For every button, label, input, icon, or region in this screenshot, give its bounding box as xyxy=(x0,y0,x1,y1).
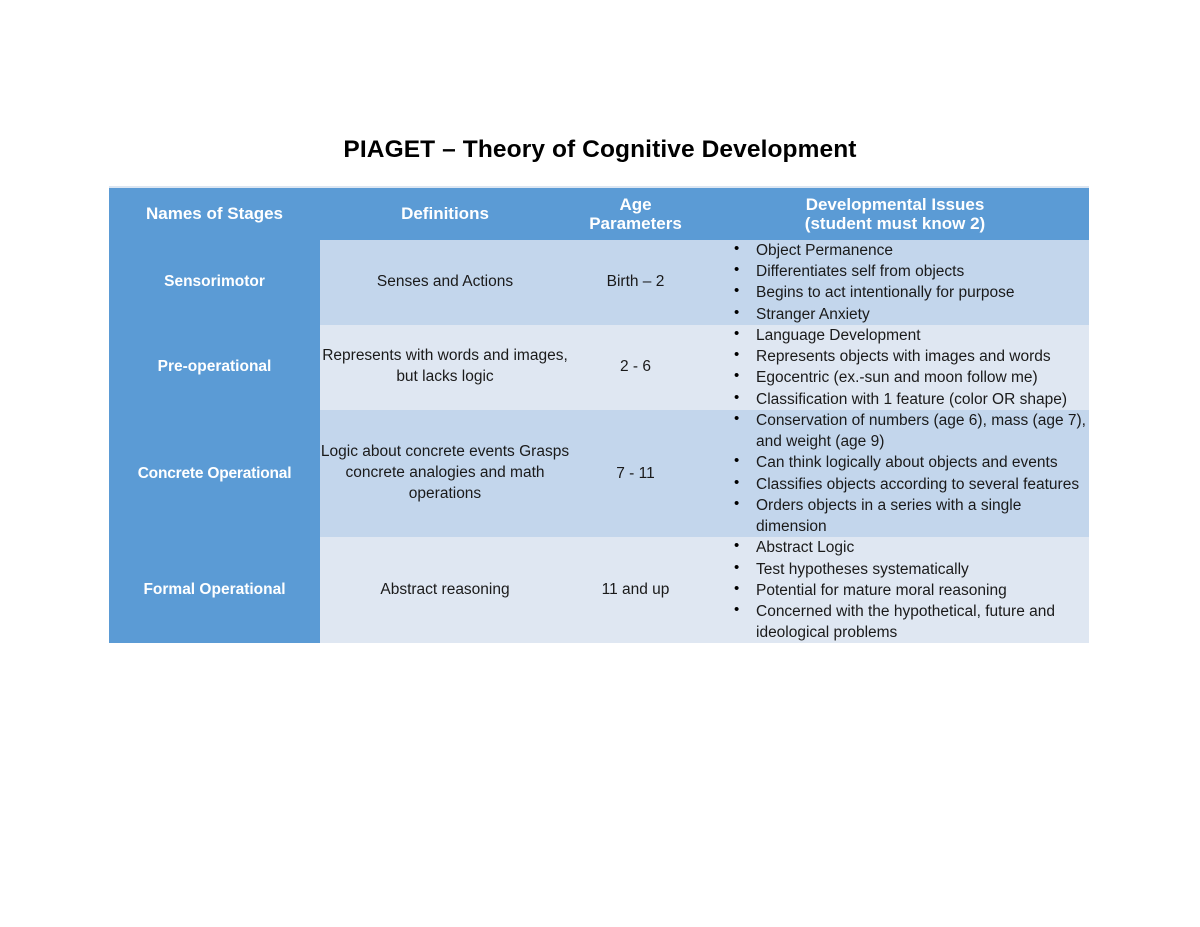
cell-stage-name: Pre-operational xyxy=(109,325,320,410)
list-item: Object Permanence xyxy=(734,240,1089,261)
list-item: Represents objects with images and words xyxy=(734,346,1089,367)
issues-list: Language Development Represents objects … xyxy=(701,325,1089,410)
list-item: Stranger Anxiety xyxy=(734,304,1089,325)
document-page: PIAGET – Theory of Cognitive Development… xyxy=(0,0,1200,927)
page-title: PIAGET – Theory of Cognitive Development xyxy=(0,136,1200,164)
list-item: Classification with 1 feature (color OR … xyxy=(734,389,1089,410)
table-body: Sensorimotor Senses and Actions Birth – … xyxy=(109,240,1089,643)
column-header-issues-line2: (student must know 2) xyxy=(701,214,1089,233)
list-item: Egocentric (ex.-sun and moon follow me) xyxy=(734,367,1089,388)
list-item: Language Development xyxy=(734,325,1089,346)
piaget-stages-table-wrapper: Names of Stages Definitions Age Paramete… xyxy=(109,186,1089,643)
list-item: Concerned with the hypothetical, future … xyxy=(734,601,1089,643)
table-row: Concrete Operational Logic about concret… xyxy=(109,410,1089,537)
list-item: Can think logically about objects and ev… xyxy=(734,452,1089,473)
cell-age-parameters: 11 and up xyxy=(570,537,701,643)
cell-definition: Logic about concrete events Grasps concr… xyxy=(320,410,570,537)
column-header-developmental-issues: Developmental Issues (student must know … xyxy=(701,188,1089,240)
cell-developmental-issues: Conservation of numbers (age 6), mass (a… xyxy=(701,410,1089,537)
cell-developmental-issues: Abstract Logic Test hypotheses systemati… xyxy=(701,537,1089,643)
table-row: Formal Operational Abstract reasoning 11… xyxy=(109,537,1089,643)
issues-list: Object Permanence Differentiates self fr… xyxy=(701,240,1089,325)
cell-stage-name: Formal Operational xyxy=(109,537,320,643)
column-header-age-line2: Parameters xyxy=(570,214,701,233)
cell-developmental-issues: Object Permanence Differentiates self fr… xyxy=(701,240,1089,325)
cell-definition: Senses and Actions xyxy=(320,240,570,325)
cell-age-parameters: Birth – 2 xyxy=(570,240,701,325)
list-item: Differentiates self from objects xyxy=(734,261,1089,282)
column-header-age-line1: Age xyxy=(570,195,701,214)
list-item: Orders objects in a series with a single… xyxy=(734,495,1089,537)
table-row: Pre-operational Represents with words an… xyxy=(109,325,1089,410)
column-header-stage: Names of Stages xyxy=(109,188,320,240)
table-row: Sensorimotor Senses and Actions Birth – … xyxy=(109,240,1089,325)
cell-definition: Represents with words and images, but la… xyxy=(320,325,570,410)
list-item: Classifies objects according to several … xyxy=(734,474,1089,495)
issues-list: Abstract Logic Test hypotheses systemati… xyxy=(701,537,1089,643)
cell-age-parameters: 2 - 6 xyxy=(570,325,701,410)
list-item: Begins to act intentionally for purpose xyxy=(734,282,1089,303)
cell-stage-name: Concrete Operational xyxy=(109,410,320,537)
column-header-issues-line1: Developmental Issues xyxy=(701,195,1089,214)
list-item: Test hypotheses systematically xyxy=(734,559,1089,580)
cell-developmental-issues: Language Development Represents objects … xyxy=(701,325,1089,410)
list-item: Conservation of numbers (age 6), mass (a… xyxy=(734,410,1089,452)
issues-list: Conservation of numbers (age 6), mass (a… xyxy=(701,410,1089,537)
cell-age-parameters: 7 - 11 xyxy=(570,410,701,537)
piaget-stages-table: Names of Stages Definitions Age Paramete… xyxy=(109,188,1089,643)
cell-stage-name: Sensorimotor xyxy=(109,240,320,325)
list-item: Potential for mature moral reasoning xyxy=(734,580,1089,601)
cell-definition: Abstract reasoning xyxy=(320,537,570,643)
list-item: Abstract Logic xyxy=(734,537,1089,558)
column-header-definitions: Definitions xyxy=(320,188,570,240)
column-header-age-parameters: Age Parameters xyxy=(570,188,701,240)
table-header-row: Names of Stages Definitions Age Paramete… xyxy=(109,188,1089,240)
